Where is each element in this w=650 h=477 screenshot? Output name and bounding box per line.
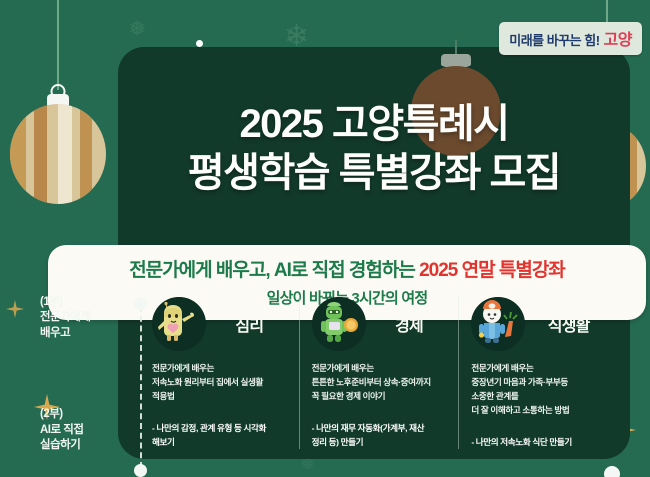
part-1-label: (1부) 전문가에게 배우고 (40, 295, 126, 341)
course-bullet: - 나만의 저속노화 식단 만들기 (471, 436, 608, 450)
course-description: 전문가에게 배우는 튼튼한 노후준비부터 상속·증여까지 꼭 필요한 경제 이야… (312, 362, 449, 404)
course-card-diet[interactable]: 식생활 전문가에게 배우는 중장년기 마음과 가족·부부등 소중한 관계를 더 … (458, 295, 618, 449)
parts-list: (1부) 전문가에게 배우고 (2부) AI로 직접 실습하기 (40, 295, 126, 453)
subtitle-highlight: 2025 연말 특별강좌 (419, 260, 565, 281)
subtitle-line-1: 전문가에게 배우고, AI로 직접 경험하는 2025 연말 특별강좌 (48, 255, 646, 282)
snowman-carrot-icon (471, 297, 525, 351)
course-title: 식생활 (533, 312, 608, 336)
course-description: 전문가에게 배우는 중장년기 마음과 가족·부부등 소중한 관계를 더 잘 이해… (471, 362, 608, 418)
title-line-2: 평생학습 특별강좌 모집 (118, 149, 630, 199)
course-columns: 심리 전문가에게 배우는 저속노화 원리부터 집에서 실생활 적용법 - 나만의… (140, 295, 618, 449)
timeline-knob-bottom (134, 464, 147, 477)
ornament-left (10, 0, 106, 216)
main-card: 2025 고양특례시 평생학습 특별강좌 모집 전문가에게 배우고, AI로 직… (118, 47, 630, 459)
course-card-header: 심리 (152, 295, 289, 353)
course-description: 전문가에게 배우는 저속노화 원리부터 집에서 실생활 적용법 (152, 362, 289, 404)
green-robot-coin-icon (312, 297, 366, 351)
poster-canvas: ❄ ❅ ❄ ❅ ❄ ❄ ❅ ✱ ✱ ✱ (0, 0, 650, 477)
course-bullet: - 나만의 감정, 관계 유형 등 시각화 해보기 (152, 422, 289, 450)
brand-badge[interactable]: 미래를 바꾸는 힘! 고양 (499, 22, 642, 55)
brand-badge-slogan: 미래를 바꾸는 힘! (509, 30, 599, 49)
course-title: 심리 (214, 312, 289, 336)
course-card-economy[interactable]: 경제 전문가에게 배우는 튼튼한 노후준비부터 상속·증여까지 꼭 필요한 경제… (299, 295, 459, 449)
course-bullet: - 나만의 재무 자동화(가계부, 재산 정리 등) 만들기 (312, 422, 449, 450)
dot-decoration (196, 40, 203, 47)
brand-badge-name: 고양 (604, 26, 632, 50)
course-card-header: 경제 (312, 295, 449, 353)
course-title: 경제 (374, 312, 449, 336)
dot-decoration (604, 466, 620, 477)
yellow-creature-heart-icon (152, 297, 206, 351)
title-line-1: 2025 고양특례시 (239, 102, 508, 146)
snowflake-icon: ❅ (128, 18, 146, 40)
course-card-header: 식생활 (471, 295, 608, 353)
page-title: 2025 고양특례시 평생학습 특별강좌 모집 (118, 100, 630, 199)
subtitle-text: 전문가에게 배우고, AI로 직접 경험하는 (129, 260, 419, 281)
sparkle-icon (6, 300, 24, 318)
course-card-psychology[interactable]: 심리 전문가에게 배우는 저속노화 원리부터 집에서 실생활 적용법 - 나만의… (140, 295, 299, 449)
part-2-label: (2부) AI로 직접 실습하기 (40, 407, 126, 453)
